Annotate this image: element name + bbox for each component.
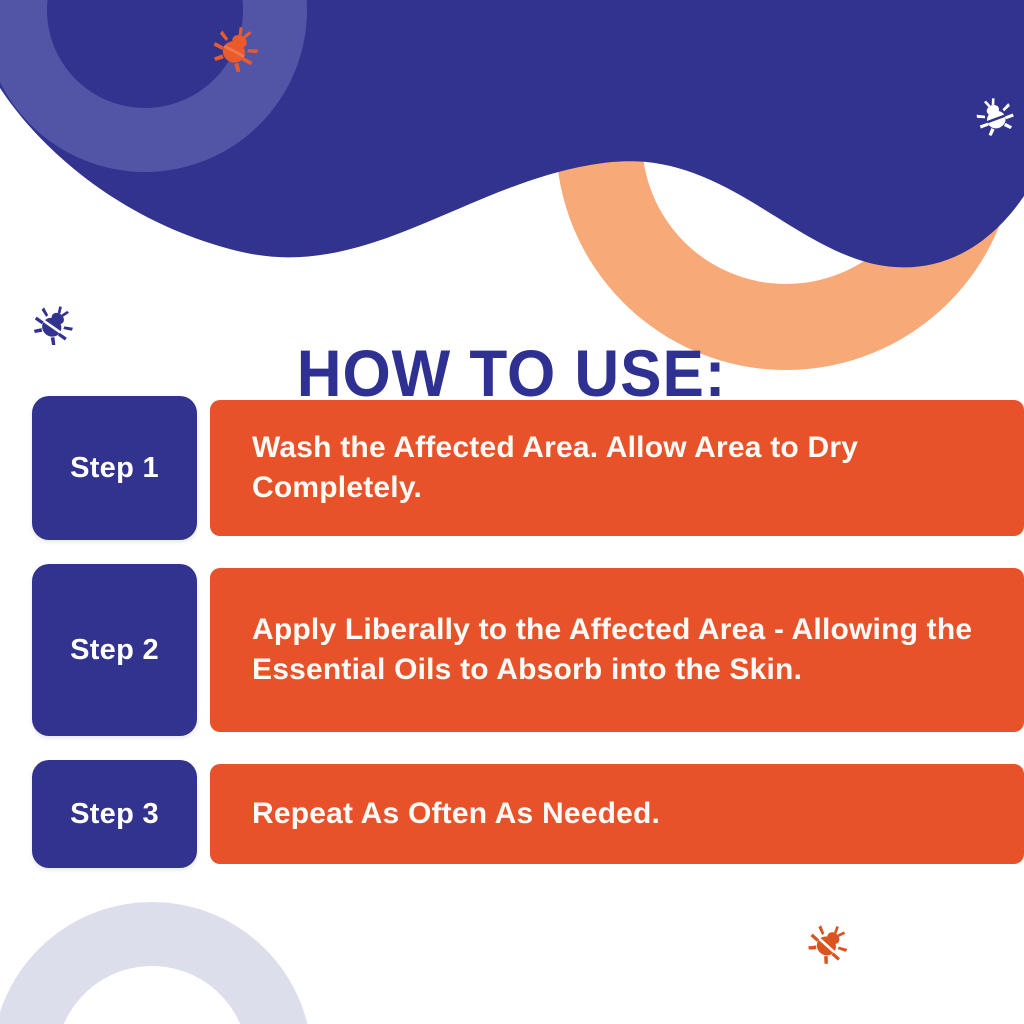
step-description-panel: Wash the Affected Area. Allow Area to Dr…: [210, 400, 1024, 536]
navy-ring-decoration: [0, 0, 307, 172]
step-badge: Step 3: [32, 760, 197, 868]
tick-icon-orange-bottom: [808, 922, 850, 964]
step-row: Repeat As Often As Needed. Step 3: [0, 760, 1024, 868]
lavender-ring-decoration: [0, 902, 312, 1024]
step-row: Wash the Affected Area. Allow Area to Dr…: [0, 396, 1024, 540]
step-description-text: Apply Liberally to the Affected Area - A…: [252, 610, 994, 690]
step-description-panel: Repeat As Often As Needed.: [210, 764, 1024, 864]
navy-wave-shape: [0, 0, 1024, 267]
step-description-panel: Apply Liberally to the Affected Area - A…: [210, 568, 1024, 732]
step-row: Apply Liberally to the Affected Area - A…: [0, 564, 1024, 736]
tick-icon-white-top-right: [975, 96, 1015, 136]
tick-icon-orange-top-left: [212, 24, 260, 72]
step-badge: Step 1: [32, 396, 197, 540]
steps-list: Wash the Affected Area. Allow Area to Dr…: [0, 396, 1024, 868]
step-description-text: Repeat As Often As Needed.: [252, 794, 994, 834]
step-description-text: Wash the Affected Area. Allow Area to Dr…: [252, 428, 994, 508]
how-to-use-poster: HOW TO USE: Wash the Affected Area. Allo…: [0, 0, 1024, 1024]
step-badge: Step 2: [32, 564, 197, 736]
